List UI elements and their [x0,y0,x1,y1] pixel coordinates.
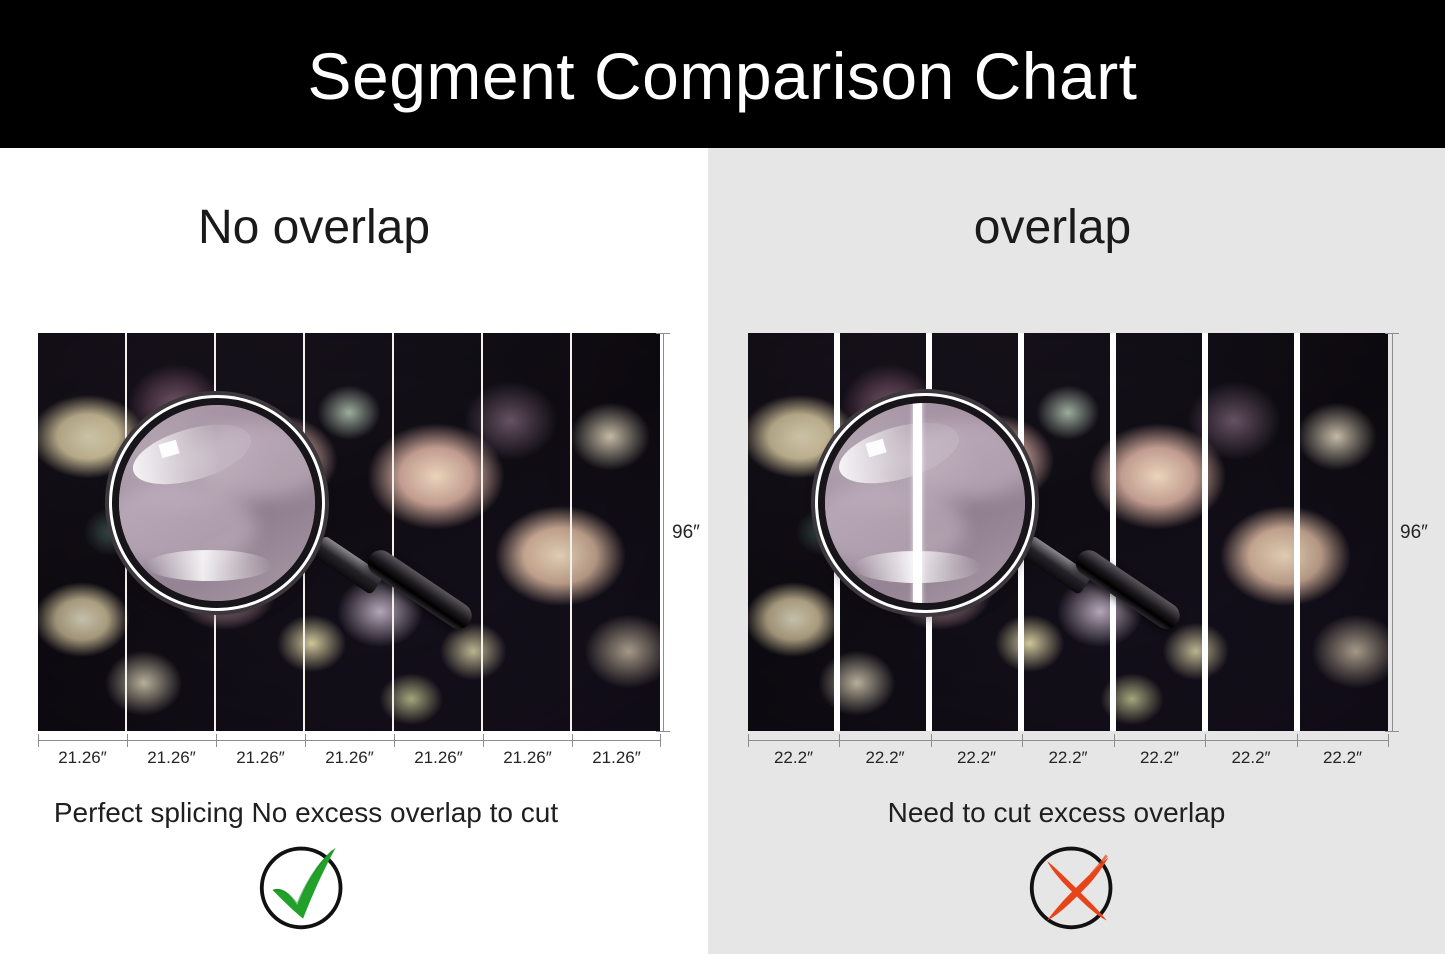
segment-tick-left-5 [483,734,484,747]
segment-label-right-4: 22.2″ [1114,748,1205,768]
segment-tick-left-7 [660,734,661,747]
segment-dimension-line-right [748,740,1388,741]
segment-label-right-0: 22.2″ [748,748,839,768]
panel-right-heading: overlap [684,200,1421,256]
segment-label-right-1: 22.2″ [839,748,931,768]
height-dimension-tick-bottom-left [656,731,670,732]
segment-tick-left-6 [572,734,573,747]
panel-overlap: overlap [708,148,1445,954]
caption-left: Perfect splicing No excess overlap to cu… [0,796,660,830]
height-label-right: 96″ [1400,522,1428,544]
panel-seam-4 [392,333,394,731]
overlap-seam-4 [1110,333,1116,731]
segment-label-left-1: 21.26″ [127,748,216,768]
panel-no-overlap: No overlap [0,148,708,954]
height-dimension-line-right [1392,333,1393,731]
magnifier-lens-right [818,396,1032,610]
segment-label-right-3: 22.2″ [1022,748,1114,768]
segment-label-left-3: 21.26″ [305,748,394,768]
overlap-seam-5 [1202,333,1208,731]
segment-tick-right-6 [1297,734,1298,747]
segment-tick-left-3 [305,734,306,747]
segment-tick-left-2 [216,734,217,747]
segment-label-left-0: 21.26″ [38,748,127,768]
panel-left-heading: No overlap [0,200,668,256]
height-dimension-tick-top-left [656,333,670,334]
segment-label-right-2: 22.2″ [931,748,1022,768]
check-mark-icon [257,838,353,934]
segment-tick-right-1 [839,734,840,747]
segment-dimension-line-left [38,740,660,741]
magnifier-lens-left [112,398,322,608]
title-banner: Segment Comparison Chart [0,0,1445,148]
segment-label-left-2: 21.26″ [216,748,305,768]
segment-tick-right-3 [1022,734,1023,747]
lens-glare-bottom [853,551,981,583]
panel-seam-5 [481,333,483,731]
segment-tick-left-4 [394,734,395,747]
segment-label-left-4: 21.26″ [394,748,483,768]
height-label-left: 96″ [672,522,700,544]
height-dimension-tick-top-right [1385,333,1399,334]
panel-seam-6 [570,333,572,731]
segment-label-right-6: 22.2″ [1297,748,1388,768]
segment-tick-right-0 [748,734,749,747]
caption-right: Need to cut excess overlap [688,796,1425,830]
segment-label-left-6: 21.26″ [572,748,661,768]
segment-tick-right-5 [1205,734,1206,747]
segment-label-right-5: 22.2″ [1205,748,1297,768]
height-dimension-tick-bottom-right [1385,731,1399,732]
segment-label-left-5: 21.26″ [483,748,572,768]
segment-tick-right-7 [1388,734,1389,747]
page-title: Segment Comparison Chart [0,40,1445,112]
segment-tick-left-1 [127,734,128,747]
cross-mark-icon [1026,838,1122,934]
overlap-seam-6 [1294,333,1300,731]
segment-tick-right-2 [931,734,932,747]
comparison-chart-page: Segment Comparison Chart No overlap [0,0,1445,954]
height-dimension-line-left [663,333,664,731]
segment-tick-left-0 [38,734,39,747]
segment-tick-right-4 [1114,734,1115,747]
